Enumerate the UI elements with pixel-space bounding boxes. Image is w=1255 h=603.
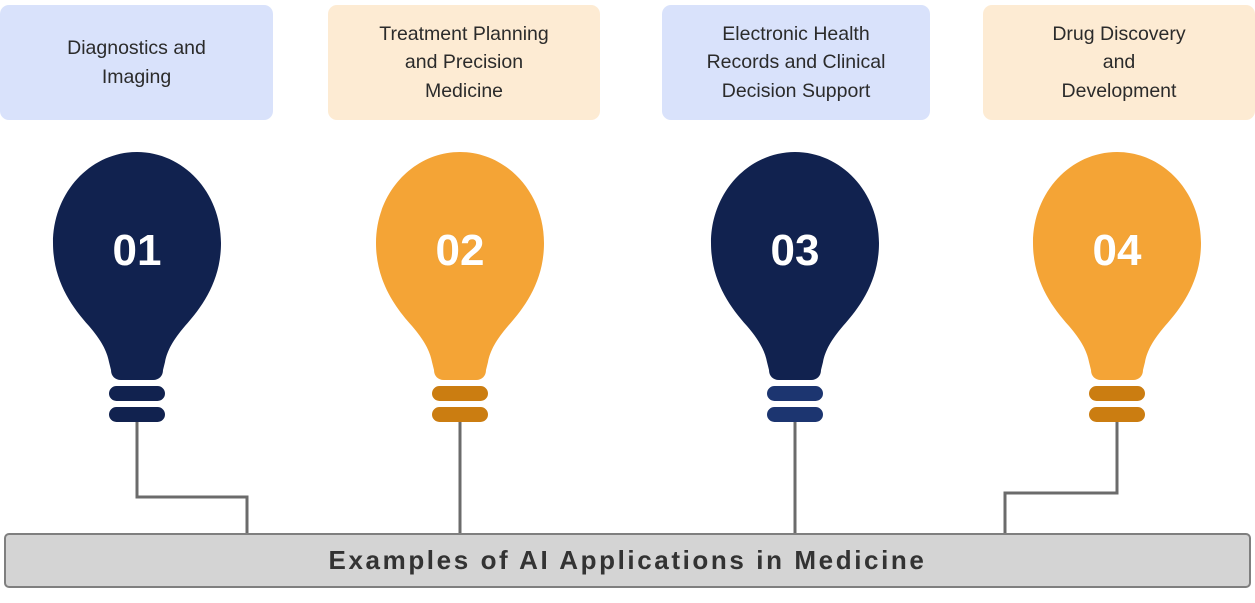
bulb-number-1: 01 [37, 226, 237, 276]
title-bar: Examples of AI Applications in Medicine [4, 533, 1251, 588]
bulb-number-2: 02 [360, 226, 560, 276]
bulb-number-4: 04 [1017, 226, 1217, 276]
infographic-canvas: Diagnostics and Imaging Treatment Planni… [0, 0, 1255, 603]
label-box-2[interactable]: Treatment Planning and Precision Medicin… [328, 5, 600, 120]
diagram-title: Examples of AI Applications in Medicine [329, 545, 927, 576]
bulb-number-3: 03 [695, 226, 895, 276]
lightbulb-4[interactable]: 04 [1017, 148, 1217, 428]
lightbulb-1[interactable]: 01 [37, 148, 237, 428]
label-box-3[interactable]: Electronic Health Records and Clinical D… [662, 5, 930, 120]
lightbulb-2[interactable]: 02 [360, 148, 560, 428]
label-box-1[interactable]: Diagnostics and Imaging [0, 5, 273, 120]
lightbulb-3[interactable]: 03 [695, 148, 895, 428]
label-box-4[interactable]: Drug Discovery and Development [983, 5, 1255, 120]
